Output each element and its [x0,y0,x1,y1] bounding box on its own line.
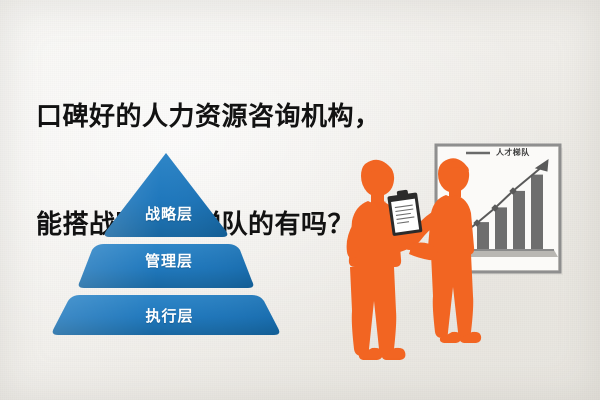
chart-bar-5 [531,175,543,250]
clipboard [387,188,423,236]
poster-canvas: 口碑好的人力资源咨询机构， 能搭战略人才梯队的有吗？ [0,0,600,400]
headline-line-1: 口碑好的人力资源咨询机构， [36,98,576,134]
handshake-illustration [325,150,510,365]
pyramid-label-management: 管理层 [88,250,250,271]
chart-bar-4 [513,191,525,250]
pyramid-tier-strategic [105,153,228,237]
talent-pyramid-diagram: 战略层 管理层 执行层 [40,145,290,345]
pyramid-label-execution: 执行层 [62,305,277,326]
figure-consultant-left [347,160,438,360]
pyramid-label-strategic: 战略层 [113,203,225,224]
